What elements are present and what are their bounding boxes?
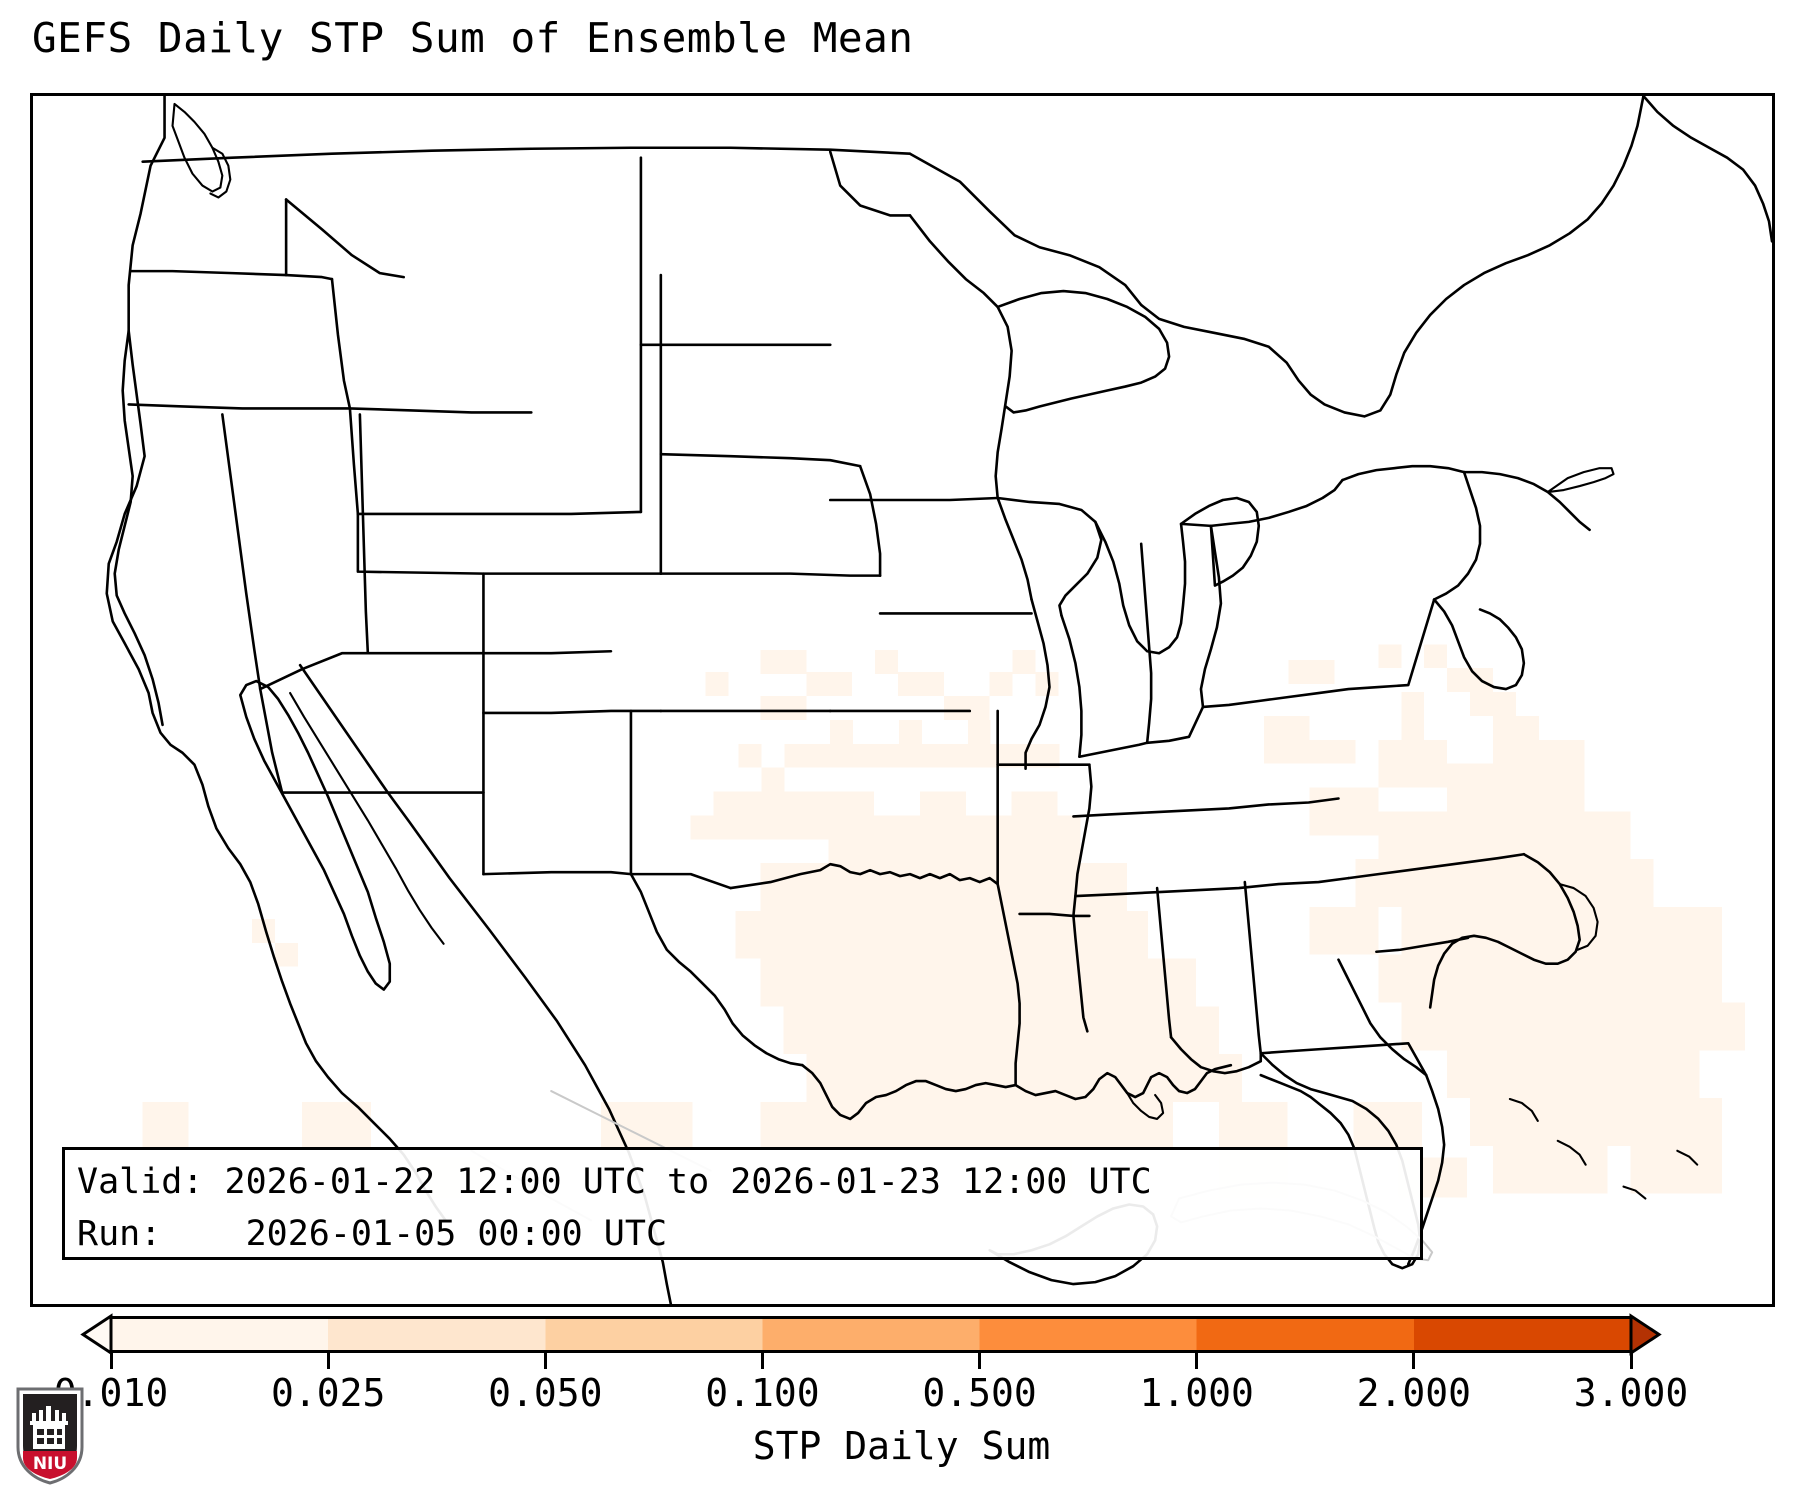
niu-shield-icon: NIU [14,1385,86,1485]
shading-cell [1378,811,1447,859]
shading-cell [601,1102,693,1150]
shading-cell [806,1054,921,1102]
shading-cell [1447,764,1516,812]
gulf-of-california [290,693,443,944]
shading-cell [783,650,806,674]
border-mt-id-north [286,199,404,277]
shading-cell [1424,644,1447,668]
shading-cell [1012,792,1058,864]
shading-cell [806,672,829,696]
shading-cell [1289,660,1335,684]
shading-cell [760,1102,920,1150]
colorbar-segment [1197,1316,1415,1353]
border-mn-canada [830,152,910,216]
lake-erie-shore [1211,480,1343,526]
shading-cell [990,863,1082,911]
colorbar-tick [327,1353,330,1369]
border-az-mexico [260,689,483,792]
shading-cell [1447,1050,1562,1098]
border-ut-az-nm [368,651,611,653]
shading-cell [1401,692,1424,740]
border-id-nv-ut [350,408,531,412]
map-svg [33,96,1772,1304]
border-ne-ks [661,574,880,576]
shading-cell [1516,1002,1654,1050]
coastline-vancouver-island [173,104,223,192]
shading-cell [1081,1006,1173,1054]
border-ne-ia-mo [860,466,880,575]
shading-cell [1447,811,1539,859]
shading-cell [829,959,944,1007]
shading-cell [944,959,1036,1007]
border-ky-tn [1073,799,1338,817]
colorbar-segment [545,1316,763,1353]
shading-cell [1562,859,1654,907]
shading-cell [1036,672,1059,696]
shading-cell [1310,788,1379,836]
border-pa-md-east [1434,472,1480,599]
shading-cell [1057,815,1080,863]
shading-cell [1653,1002,1745,1050]
shading-cell [968,720,991,768]
map-clip [33,96,1772,1304]
shading-cell [1630,1146,1722,1194]
border-us-canada-west [143,148,910,162]
shading-cell [829,672,852,696]
colorbar-tick-label: 0.025 [271,1372,385,1414]
shading-cell [1493,1146,1608,1194]
colorbar-tick [1630,1353,1633,1369]
border-in-oh [1141,544,1151,743]
coastline-baja [240,681,389,989]
shading-cell [760,650,783,674]
shading-cell [921,1054,1013,1102]
shading-cell [874,815,920,863]
colorbar-tick [1195,1353,1198,1369]
shading-cell [875,650,898,674]
colorbar-tick [761,1353,764,1369]
colorbar-tick [978,1353,981,1369]
shading-cell [739,744,762,768]
lake-michigan-shore [1095,522,1185,653]
shading-cell [1219,1102,1288,1150]
border-pa-ny [1342,466,1464,480]
shading-cell [1470,1098,1608,1146]
colorbar-segment [1414,1316,1632,1353]
shading-cell [1447,668,1493,692]
colorbar-tick-labels: 0.0100.0250.0500.1000.5001.0002.0003.000 [0,1372,1803,1420]
border-id-mt-wy [332,279,358,514]
shading-cell [714,792,760,840]
shading-cell [1310,907,1379,955]
colorbar-under-arrow [83,1316,111,1353]
shading-cell [852,863,921,911]
shading-cell [830,720,853,768]
shading-cell [1378,955,1470,1003]
border-mn-ia [830,498,997,500]
shading-cell [1127,959,1196,1007]
shading-cell [899,720,922,768]
shading-cell [990,672,1013,696]
info-run-line: Run: 2026-01-05 00:00 UTC [77,1208,1420,1260]
shading-cell [1058,1102,1173,1150]
shading-cell [1608,1098,1723,1146]
colorbar-tick-label: 3.000 [1574,1372,1688,1414]
shading-cell [1378,644,1401,668]
border-mn-wi [910,215,1012,498]
colorbar-tick-label: 0.500 [922,1372,1036,1414]
colorbar-tick-label: 2.000 [1357,1372,1471,1414]
shading-cell [1562,1050,1700,1098]
colorbar-over-arrow [1631,1316,1659,1353]
shading-cell [759,792,828,840]
border-co-nm [483,711,660,713]
long-island [1548,468,1614,492]
colorbar-segment [980,1316,1198,1353]
map-panel[interactable] [30,93,1775,1307]
colorbar-tick [544,1353,547,1369]
shading-cell [828,792,874,864]
shading-cell [691,815,714,839]
colorbar[interactable] [0,1307,1803,1367]
shading-cell [1470,692,1516,716]
shading-cell [760,696,806,720]
shading-cell [1013,1054,1128,1102]
colorbar-ticks [83,1353,1659,1369]
shading-cell [1630,907,1722,955]
colorbar-tick [1412,1353,1415,1369]
info-box: Valid: 2026-01-22 12:00 UTC to 2026-01-2… [62,1147,1423,1260]
shading-layer [143,644,1745,1197]
shading-cell [988,911,1080,959]
shading-cell [990,1006,1082,1054]
shading-cell [1539,811,1631,859]
colorbar-segments [83,1316,1659,1353]
border-oh-pa-wv [1201,526,1221,707]
upper-peninsula [998,291,1169,412]
shading-cell [921,1102,1059,1150]
coastline-northeast [1643,96,1772,241]
colorbar-segment [328,1316,546,1353]
shading-cell [783,1006,875,1054]
shading-cell [1310,740,1356,764]
colorbar-svg [83,1316,1659,1353]
shading-cell [922,744,968,768]
shading-cell [1516,740,1585,812]
shading-cell [706,672,729,696]
border-il-in [1061,615,1081,756]
colorbar-tick [110,1353,113,1369]
colorbar-tick-label: 1.000 [1140,1372,1254,1414]
shading-cell [760,863,852,911]
shading-cell [1378,740,1447,788]
border-nv-ut [360,414,368,653]
colorbar-gradient[interactable] [83,1316,1659,1353]
border-il-in-oh-south-ky [1079,707,1203,757]
shading-cell [1013,650,1036,674]
coastline-ny-ne [1464,472,1590,530]
colorbar-axis-title: STP Daily Sum [0,1424,1803,1468]
border-wi-mi-lakes [998,498,1102,615]
border-ca-nv-az [222,414,260,689]
border-ga-al [1245,882,1261,1053]
coastline-pacific-northwest [107,96,446,1220]
shading-cell [1353,1102,1422,1150]
shading-cell [275,943,298,967]
border-wy-ut-co [358,514,661,574]
border-or-ca-nv [129,404,350,408]
shading-cell [967,696,990,720]
shading-cell [966,815,1012,863]
niu-logo: NIU [14,1385,86,1485]
shading-cell [919,911,988,959]
shading-cell [1081,863,1127,911]
page-title: GEFS Daily STP Sum of Ensemble Mean [32,18,913,59]
shading-cell [143,1102,189,1150]
lake-huron-shore [1181,498,1259,586]
shading-cell [1079,911,1148,959]
border-sd-ne [661,454,860,466]
shading-cell [921,672,944,696]
border-ia-wi-il [998,498,1032,599]
shading-cell [736,911,828,959]
shading-cell [898,672,921,696]
shading-cell [853,744,899,768]
shading-cell [944,696,967,720]
shading-cell [921,863,990,911]
shading-cell [827,911,919,959]
border-mt-wy [358,512,641,514]
colorbar-tick-label: 0.050 [488,1372,602,1414]
shading-cell [920,792,966,864]
shading-cell [1608,955,1723,1003]
shading-cell [760,959,829,1007]
colorbar-segment [762,1316,980,1353]
shading-cell [1264,716,1310,764]
shading-cell [875,1006,990,1054]
niu-wordmark: NIU [33,1454,67,1474]
colorbar-tick-label: 0.100 [705,1372,819,1414]
figure-root: GEFS Daily STP Sum of Ensemble Mean [0,0,1803,1500]
shading-cell [1401,1002,1516,1050]
shading-cell [784,744,830,768]
border-nm-mexico [483,872,730,888]
border-wa-or [131,271,332,279]
info-valid-line: Valid: 2026-01-22 12:00 UTC to 2026-01-2… [77,1156,1420,1208]
border-us-canada-great-lakes [910,96,1643,416]
colorbar-segment [111,1316,329,1353]
shading-cell [761,768,784,792]
